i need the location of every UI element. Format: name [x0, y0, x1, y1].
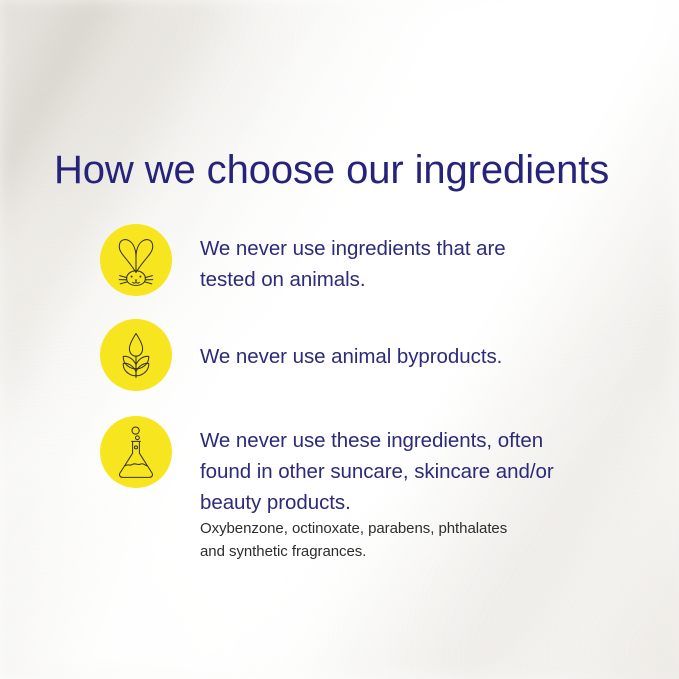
principle-line: We never use these ingredients, often [200, 425, 620, 456]
principle-line: found in other suncare, skincare and/or [200, 456, 620, 487]
principle-line: tested on animals. [200, 264, 620, 295]
bunny-cruelty-free-icon [100, 224, 172, 296]
principle-text: We never use ingredients that are tested… [200, 233, 620, 295]
page-title: How we choose our ingredients [54, 148, 609, 193]
principle-text: We never use these ingredients, often fo… [200, 425, 620, 518]
plant-sprout-icon [100, 319, 172, 391]
banned-ingredients-line: and synthetic fragrances. [200, 541, 600, 564]
ingredient-principles-panel: How we choose our ingredients [0, 0, 679, 679]
banned-ingredients-line: Oxybenzone, octinoxate, parabens, phthal… [200, 518, 600, 541]
flask-chemistry-icon [100, 416, 172, 488]
principle-line: We never use animal byproducts. [200, 341, 620, 372]
principle-line: We never use ingredients that are [200, 233, 620, 264]
principle-text: We never use animal byproducts. [200, 341, 620, 372]
principle-line: beauty products. [200, 487, 620, 518]
banned-ingredients-note: Oxybenzone, octinoxate, parabens, phthal… [200, 518, 600, 563]
